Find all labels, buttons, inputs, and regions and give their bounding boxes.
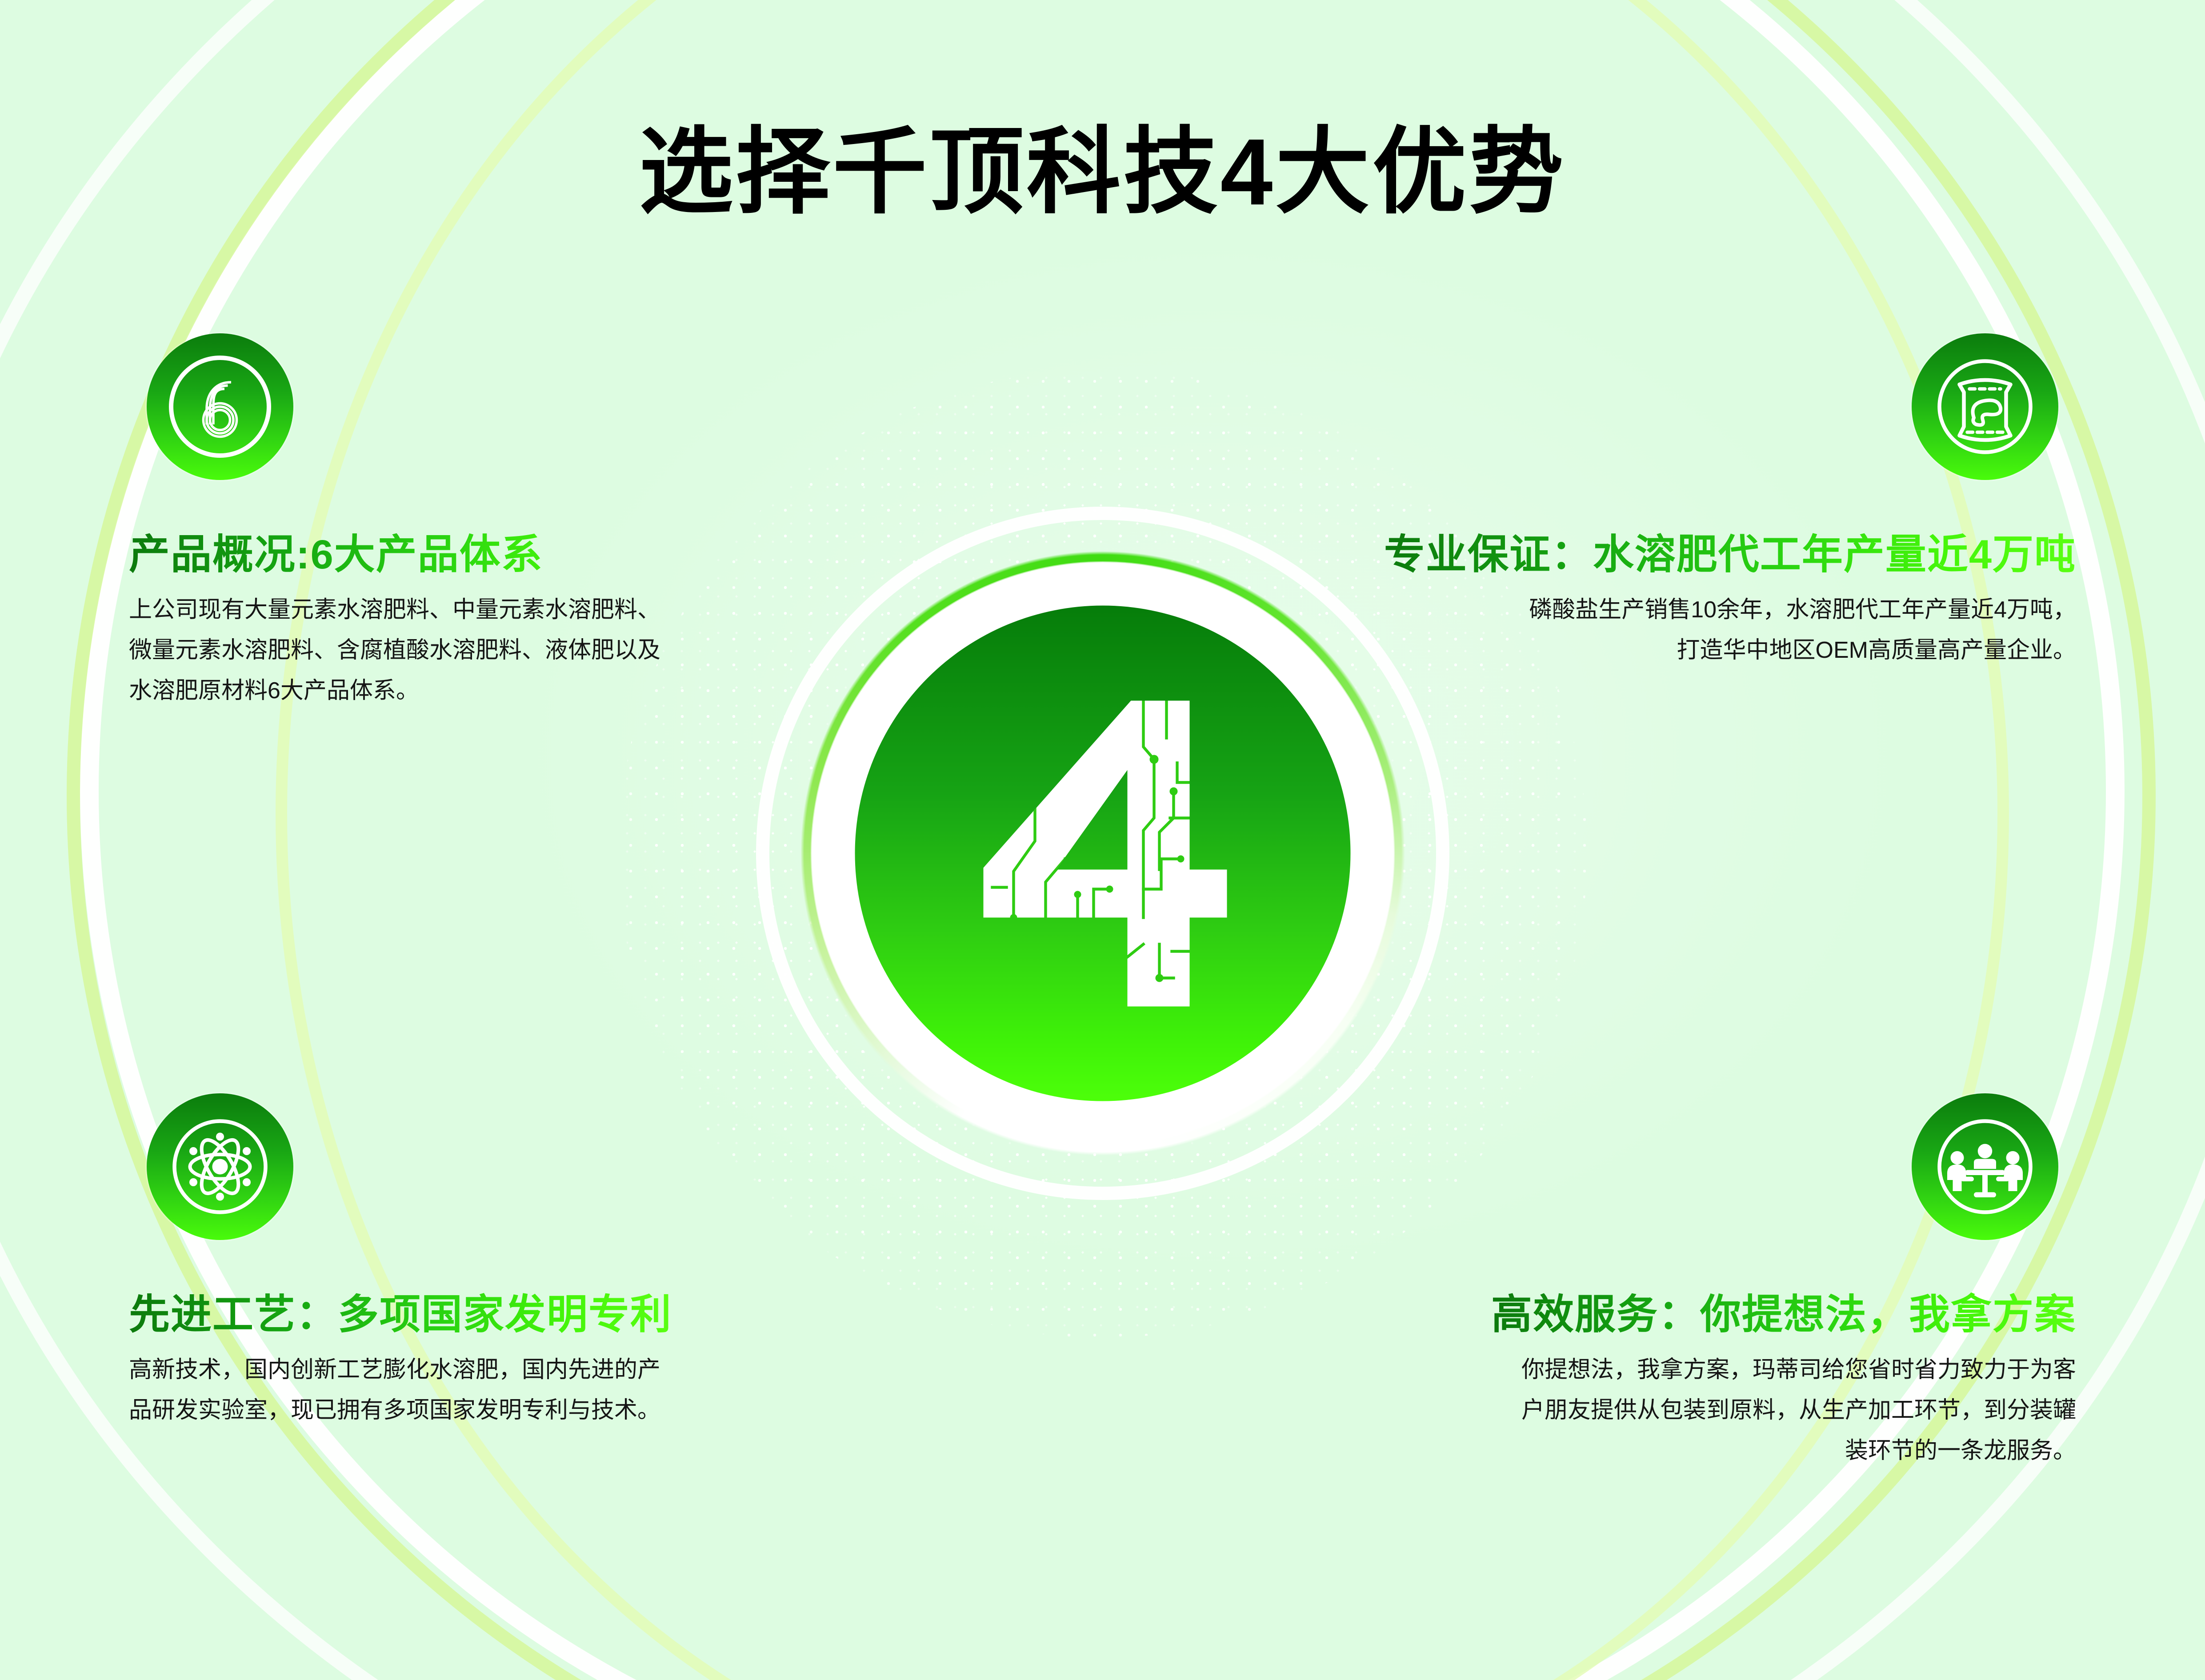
feature-title: 先进工艺：多项国家发明专利	[129, 1292, 672, 1337]
feature-body: 上公司现有大量元素水溶肥料、中量元素水溶肥料、微量元素水溶肥料、含腐植酸水溶肥料…	[129, 590, 671, 711]
feature-block-top-left: 产品概况:6大产品体系 上公司现有大量元素水溶肥料、中量元素水溶肥料、微量元素水…	[129, 333, 671, 711]
feature-title: 高效服务：你提想法，我拿方案	[1491, 1292, 2076, 1337]
feature-icon-badge-product-overview	[147, 333, 293, 480]
feature-icon-badge-capacity	[1912, 333, 2058, 480]
feature-body: 你提想法，我拿方案，玛蒂司给您省时省力致力于为客户朋友提供从包装到原料，从生产加…	[1521, 1350, 2076, 1471]
center-number-badge	[855, 606, 1350, 1101]
feature-icon-badge-technology	[147, 1093, 293, 1240]
number-six-spiral-icon	[164, 351, 276, 462]
feature-block-bottom-right: 高效服务：你提想法，我拿方案 你提想法，我拿方案，玛蒂司给您省时省力致力于为客户…	[1491, 1093, 2076, 1471]
atom-icon	[164, 1111, 276, 1222]
feature-body: 磷酸盐生产销售10余年，水溶肥代工年产量近4万吨，打造华中地区OEM高质量高产量…	[1521, 590, 2076, 671]
number-four-circuit-icon	[960, 684, 1245, 1022]
feature-block-bottom-left: 先进工艺：多项国家发明专利 高新技术，国内创新工艺膨化水溶肥，国内先进的产品研发…	[129, 1093, 672, 1431]
feature-block-top-right: 专业保证：水溶肥代工年产量近4万吨 磷酸盐生产销售10余年，水溶肥代工年产量近4…	[1384, 333, 2076, 671]
feature-title: 专业保证：水溶肥代工年产量近4万吨	[1384, 532, 2076, 577]
meeting-team-icon	[1929, 1111, 2041, 1222]
page-title: 选择千顶科技4大优势	[0, 96, 2205, 232]
infographic-canvas: 选择千顶科技4大优势	[0, 0, 2205, 1680]
feature-icon-badge-service	[1912, 1093, 2058, 1240]
feature-title: 产品概况:6大产品体系	[129, 532, 671, 577]
fertilizer-bag-icon	[1929, 351, 2041, 462]
feature-body: 高新技术，国内创新工艺膨化水溶肥，国内先进的产品研发实验室，现已拥有多项国家发明…	[129, 1350, 671, 1431]
